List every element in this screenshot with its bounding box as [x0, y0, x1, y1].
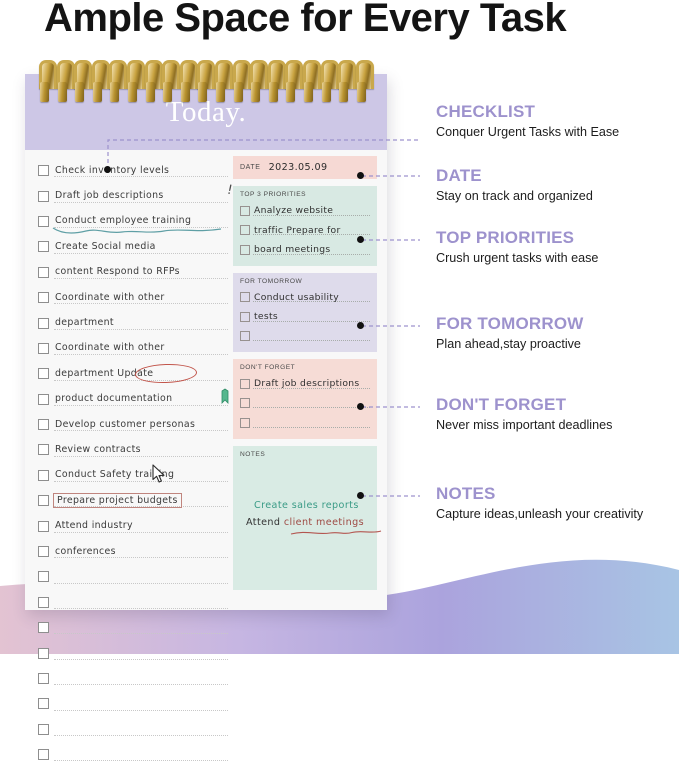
- checklist-item-label: content Respond to RFPs: [55, 266, 180, 278]
- annotation-checklist: CHECKLIST Conquer Urgent Tasks with Ease: [436, 102, 619, 140]
- date-panel[interactable]: DATE 2023.05.09: [233, 156, 377, 179]
- circle-annotation-icon: [135, 363, 198, 384]
- panel-row-label: Draft job descriptions: [254, 378, 359, 389]
- checkbox-icon[interactable]: [240, 331, 250, 341]
- spiral-ring: [268, 60, 280, 102]
- annotation-notes-title: NOTES: [436, 484, 643, 504]
- checklist-item-label: product documentation: [55, 393, 172, 405]
- checkbox-icon[interactable]: [38, 368, 49, 379]
- checklist-row[interactable]: Coordinate with other: [38, 285, 228, 310]
- checklist-row[interactable]: Review contracts: [38, 437, 228, 462]
- annotation-for-tomorrow-sub: Plan ahead,stay proactive: [436, 336, 584, 352]
- spiral-ring: [197, 60, 209, 102]
- checklist-item-label: Create Social media: [55, 241, 156, 253]
- spiral-ring: [145, 60, 157, 102]
- checkbox-icon[interactable]: [38, 749, 49, 760]
- checklist-rule-line: [54, 659, 228, 660]
- checklist-row[interactable]: content Respond to RFPs: [38, 260, 228, 285]
- checklist: Check inventory levelsDraft job descript…: [38, 158, 228, 767]
- top-priorities-panel[interactable]: TOP 3 PRIORITIES Analyze websitetraffic …: [233, 186, 377, 266]
- checkbox-icon[interactable]: [240, 245, 250, 255]
- checklist-row[interactable]: Conduct employee training: [38, 209, 228, 234]
- checklist-row[interactable]: Conduct Safety training: [38, 463, 228, 488]
- annotation-for-tomorrow: FOR TOMORROW Plan ahead,stay proactive: [436, 314, 584, 352]
- annotation-dont-forget-title: DON'T FORGET: [436, 395, 612, 415]
- panel-rule-line: [253, 407, 370, 408]
- annotation-date-sub: Stay on track and organized: [436, 188, 593, 204]
- checklist-row[interactable]: [38, 717, 228, 742]
- panel-row[interactable]: [240, 413, 370, 433]
- spiral-ring: [92, 60, 104, 102]
- notes-line-2-prefix: Attend: [246, 517, 284, 528]
- notepad: Today. Check inventory levelsDraft job d…: [25, 74, 387, 610]
- panel-row[interactable]: board meetings: [240, 240, 370, 260]
- checkbox-icon[interactable]: [38, 724, 49, 735]
- annotation-dont-forget: DON'T FORGET Never miss important deadli…: [436, 395, 612, 433]
- checklist-item-label: Draft job descriptions: [55, 190, 164, 202]
- checklist-row[interactable]: product documentation: [38, 387, 228, 412]
- checkbox-icon[interactable]: [38, 495, 49, 506]
- spiral-ring: [233, 60, 245, 102]
- checkbox-icon[interactable]: [240, 418, 250, 428]
- for-tomorrow-label: FOR TOMORROW: [240, 278, 370, 285]
- panel-row[interactable]: Conduct usability: [240, 288, 370, 308]
- checklist-rule-line: [54, 735, 228, 736]
- annotation-date: DATE Stay on track and organized: [436, 166, 593, 204]
- checklist-row[interactable]: [38, 691, 228, 716]
- checklist-row[interactable]: [38, 666, 228, 691]
- annotation-notes-sub: Capture ideas,unleash your creativity: [436, 506, 643, 522]
- checklist-row[interactable]: Coordinate with other: [38, 336, 228, 361]
- notes-underline-squiggle: [290, 529, 382, 536]
- panel-rule-line: [253, 427, 370, 428]
- checklist-row[interactable]: conferences: [38, 539, 228, 564]
- page-title: Ample Space for Every Task: [44, 0, 664, 41]
- checklist-row[interactable]: [38, 640, 228, 665]
- panel-row[interactable]: tests: [240, 307, 370, 327]
- annotation-top-priorities-sub: Crush urgent tasks with ease: [436, 250, 598, 266]
- underline-squiggle-icon: [52, 226, 222, 235]
- panel-row[interactable]: Draft job descriptions: [240, 374, 370, 394]
- spiral-ring: [285, 60, 297, 102]
- spiral-ring: [39, 60, 51, 102]
- checklist-row[interactable]: [38, 742, 228, 767]
- notes-line-1: Create sales reports: [254, 500, 370, 511]
- panel-row-label: traffic Prepare for: [254, 225, 341, 236]
- connector-dot-forget: [357, 403, 364, 410]
- spiral-ring: [356, 60, 368, 102]
- checklist-row[interactable]: Draft job descriptions!: [38, 183, 228, 208]
- spiral-ring: [215, 60, 227, 102]
- checklist-item-label: Review contracts: [55, 444, 141, 456]
- checkbox-icon[interactable]: [38, 571, 49, 582]
- checklist-rule-line: [54, 633, 228, 634]
- spiral-ring: [250, 60, 262, 102]
- spiral-ring: [303, 60, 315, 102]
- checklist-row[interactable]: Prepare project budgets: [38, 488, 228, 513]
- annotation-dont-forget-sub: Never miss important deadlines: [436, 417, 612, 433]
- panel-column: DATE 2023.05.09 TOP 3 PRIORITIES Analyze…: [233, 156, 377, 597]
- spiral-ring: [338, 60, 350, 102]
- panel-row-label: Analyze website: [254, 205, 333, 216]
- panel-row[interactable]: traffic Prepare for: [240, 221, 370, 241]
- checkbox-icon[interactable]: [240, 398, 250, 408]
- date-value: 2023.05.09: [269, 162, 328, 173]
- pen-icon: [219, 388, 231, 404]
- notes-label: NOTES: [240, 451, 370, 458]
- connector-dot-priorities: [357, 236, 364, 243]
- spiral-ring: [127, 60, 139, 102]
- checkbox-icon[interactable]: [38, 292, 49, 303]
- spiral-ring: [57, 60, 69, 102]
- notes-content: Create sales reports Attend client meeti…: [240, 500, 370, 528]
- dont-forget-panel[interactable]: DON'T FORGET Draft job descriptions: [233, 359, 377, 439]
- checkbox-icon[interactable]: [240, 379, 250, 389]
- checklist-row[interactable]: [38, 615, 228, 640]
- checkbox-icon[interactable]: [38, 546, 49, 557]
- checklist-rule-line: [54, 760, 228, 761]
- date-label: DATE: [240, 164, 261, 171]
- checkbox-icon[interactable]: [38, 470, 49, 481]
- spiral-binding: [39, 60, 373, 104]
- panel-row-label: Conduct usability: [254, 292, 339, 303]
- annotation-notes: NOTES Capture ideas,unleash your creativ…: [436, 484, 643, 522]
- spiral-ring: [162, 60, 174, 102]
- checkbox-icon[interactable]: [38, 318, 49, 329]
- notepad-body: Check inventory levelsDraft job descript…: [25, 150, 387, 610]
- checklist-row[interactable]: Attend industry: [38, 513, 228, 538]
- checkbox-icon[interactable]: [38, 673, 49, 684]
- checklist-item-label: Develop customer personas: [55, 419, 195, 431]
- checkbox-icon[interactable]: [38, 698, 49, 709]
- checklist-item-label: Prepare project budgets: [53, 493, 182, 508]
- checkbox-icon[interactable]: [240, 292, 250, 302]
- checkbox-icon[interactable]: [240, 206, 250, 216]
- checklist-row[interactable]: [38, 590, 228, 615]
- annotation-top-priorities-title: TOP PRIORITIES: [436, 228, 598, 248]
- annotation-checklist-sub: Conquer Urgent Tasks with Ease: [436, 124, 619, 140]
- notes-line-2: Attend client meetings: [246, 517, 370, 528]
- checklist-rule-line: [54, 710, 228, 711]
- checkbox-icon[interactable]: [38, 191, 49, 202]
- top-priorities-label: TOP 3 PRIORITIES: [240, 191, 370, 198]
- panel-row-label: tests: [254, 311, 278, 322]
- checkbox-icon[interactable]: [38, 165, 49, 176]
- panel-row[interactable]: [240, 327, 370, 347]
- mouse-cursor-icon: [152, 464, 167, 484]
- checklist-rule-line: [54, 608, 228, 609]
- annotation-checklist-title: CHECKLIST: [436, 102, 619, 122]
- checklist-item-label: department: [55, 317, 114, 329]
- spiral-ring: [109, 60, 121, 102]
- checklist-item-label: Coordinate with other: [55, 292, 165, 304]
- checkbox-icon[interactable]: [38, 394, 49, 405]
- annotation-top-priorities: TOP PRIORITIES Crush urgent tasks with e…: [436, 228, 598, 266]
- checklist-row[interactable]: Create Social media: [38, 234, 228, 259]
- notes-line-2-highlight: client meetings: [284, 517, 364, 528]
- spiral-ring: [180, 60, 192, 102]
- checklist-rule-line: [54, 684, 228, 685]
- annotation-date-title: DATE: [436, 166, 593, 186]
- checkbox-icon[interactable]: [38, 419, 49, 430]
- checklist-item-label: Check inventory levels: [55, 165, 169, 177]
- checklist-item-label: Coordinate with other: [55, 342, 165, 354]
- annotation-for-tomorrow-title: FOR TOMORROW: [436, 314, 584, 334]
- checkbox-icon[interactable]: [38, 597, 49, 608]
- dont-forget-label: DON'T FORGET: [240, 364, 370, 371]
- connector-dot-date: [357, 172, 364, 179]
- checklist-rule-line: [54, 583, 228, 584]
- checklist-item-label: conferences: [55, 546, 116, 558]
- spiral-ring: [74, 60, 86, 102]
- checkbox-icon[interactable]: [240, 225, 250, 235]
- connector-dot-tomorrow: [357, 322, 364, 329]
- checkbox-icon[interactable]: [38, 648, 49, 659]
- panel-row-label: board meetings: [254, 244, 331, 255]
- checklist-row[interactable]: Develop customer personas: [38, 412, 228, 437]
- checkbox-icon[interactable]: [38, 216, 49, 227]
- connector-dot-notes: [357, 492, 364, 499]
- checkbox-icon[interactable]: [38, 241, 49, 252]
- checkbox-icon[interactable]: [38, 267, 49, 278]
- panel-rule-line: [253, 340, 370, 341]
- panel-row[interactable]: Analyze website: [240, 201, 370, 221]
- checkbox-icon[interactable]: [38, 343, 49, 354]
- panel-row[interactable]: [240, 394, 370, 414]
- spiral-ring: [321, 60, 333, 102]
- checklist-row[interactable]: department: [38, 310, 228, 335]
- checklist-item-label: Attend industry: [55, 520, 133, 532]
- checkbox-icon[interactable]: [38, 521, 49, 532]
- checklist-row[interactable]: Check inventory levels: [38, 158, 228, 183]
- for-tomorrow-panel[interactable]: FOR TOMORROW Conduct usabilitytests: [233, 273, 377, 353]
- notes-panel[interactable]: NOTES Create sales reports Attend client…: [233, 446, 377, 590]
- checkbox-icon[interactable]: [240, 312, 250, 322]
- checkbox-icon[interactable]: [38, 444, 49, 455]
- checklist-row[interactable]: department Update: [38, 361, 228, 386]
- checklist-row[interactable]: [38, 564, 228, 589]
- checkbox-icon[interactable]: [38, 622, 49, 633]
- connector-dot-checklist: [104, 166, 111, 173]
